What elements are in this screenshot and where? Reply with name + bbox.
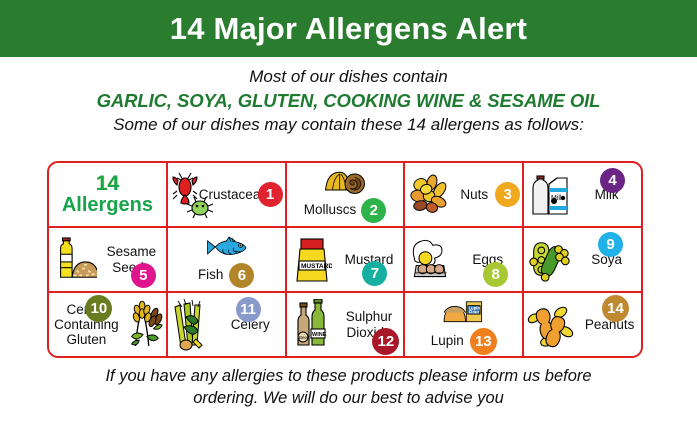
allergen-grid-wrapper: 14 Allergens: [47, 161, 643, 358]
intro-block: Most of our dishes contain GARLIC, SOYA,…: [0, 57, 697, 136]
intro-line-1: Most of our dishes contain: [0, 66, 697, 87]
allergen-cell-nuts[interactable]: Nuts 3: [405, 163, 524, 226]
wine-bottles-icon: Beer WINE: [289, 298, 335, 352]
intro-line-3: Some of our dishes may contain these 14 …: [0, 114, 697, 135]
header-band: 14 Major Allergens Alert: [0, 0, 697, 57]
allergen-cell-lupin[interactable]: Lupin Flour Lupin 13: [405, 293, 524, 356]
allergen-cell-eggs[interactable]: Eggs 8: [405, 228, 524, 291]
allergen-count-number: 14: [96, 173, 119, 195]
footer-line-1: If you have any allergies to these produ…: [0, 366, 697, 388]
allergen-cell-milk[interactable]: Milk Milk 4: [524, 163, 641, 226]
svg-text:WINE: WINE: [312, 332, 327, 338]
allergen-label: Molluscs: [304, 202, 357, 217]
allergen-badge: 5: [131, 263, 156, 288]
svg-text:Milk: Milk: [551, 195, 564, 202]
svg-text:Flour: Flour: [468, 309, 479, 314]
mixed-nuts-icon: [407, 168, 453, 222]
allergen-label: Nuts: [460, 187, 488, 202]
allergen-row: Sesame Seeds 5: [49, 228, 641, 293]
allergen-badge: 8: [483, 262, 508, 287]
allergen-count-word: Allergens: [62, 195, 153, 216]
wheat-sheaf-icon: [124, 298, 164, 352]
allergen-badge: 12: [372, 328, 399, 355]
allergen-cell-cereal-gluten[interactable]: Cereal Containing Gluten: [49, 293, 168, 356]
celery-stalks-icon: [170, 298, 216, 352]
grid-title-cell: 14 Allergens: [49, 163, 168, 226]
shell-snail-icon: [322, 167, 368, 197]
allergen-row: Cereal Containing Gluten: [49, 293, 641, 356]
allergen-cell-mustard[interactable]: MUSTARD Mustard 7: [287, 228, 406, 291]
mustard-jar-icon: MUSTARD: [289, 233, 335, 287]
allergen-cell-celery[interactable]: Celery 11: [168, 293, 287, 356]
allergen-badge: 11: [236, 297, 261, 322]
allergen-cell-molluscs[interactable]: Molluscs 2: [287, 163, 406, 226]
allergen-cell-soya[interactable]: Soya 9: [524, 228, 641, 291]
svg-text:MUSTARD: MUSTARD: [301, 263, 332, 270]
lupin-flour-bread-icon: Lupin Flour: [441, 295, 487, 327]
allergen-cell-peanuts[interactable]: Peanuts 14: [524, 293, 641, 356]
allergen-cell-crustaceans[interactable]: Crustaceans 1: [168, 163, 287, 226]
allergen-grid: 14 Allergens: [47, 161, 643, 358]
footer-line-2: ordering. We will do our best to advise …: [0, 388, 697, 410]
milk-carton-icon: Milk: [526, 168, 572, 222]
intro-line-2-ingredients: GARLIC, SOYA, GLUTEN, COOKING WINE & SES…: [0, 89, 697, 112]
allergen-badge: 1: [258, 182, 283, 207]
allergen-label: Fish: [198, 267, 224, 282]
peanuts-icon: [526, 298, 578, 352]
allergen-badge: 6: [229, 263, 254, 288]
allergen-row: 14 Allergens: [49, 163, 641, 228]
allergen-badge: 13: [470, 328, 497, 355]
footer-block: If you have any allergies to these produ…: [0, 366, 697, 410]
allergen-badge: 3: [495, 182, 520, 207]
allergen-cell-sulphur-dioxide[interactable]: Beer WINE Sulphur Dioxide 12: [287, 293, 406, 356]
allergen-badge: 4: [600, 168, 625, 193]
page-title: 14 Major Allergens Alert: [170, 13, 527, 44]
allergen-badge: 14: [602, 295, 629, 322]
fish-icon: [203, 232, 249, 262]
sesame-oil-bread-icon: [51, 233, 97, 287]
allergen-badge: 9: [598, 232, 623, 257]
allergen-cell-sesame-seeds[interactable]: Sesame Seeds 5: [49, 228, 168, 291]
allergen-poster: 14 Major Allergens Alert Most of our dis…: [0, 0, 697, 429]
soya-beans-icon: [526, 233, 572, 287]
allergen-label: Lupin: [431, 333, 464, 348]
svg-text:Beer: Beer: [299, 335, 309, 340]
eggs-carton-icon: [407, 233, 453, 287]
allergen-badge: 2: [361, 198, 386, 223]
allergen-cell-fish[interactable]: Fish 6: [168, 228, 287, 291]
allergen-badge: 7: [362, 261, 387, 286]
